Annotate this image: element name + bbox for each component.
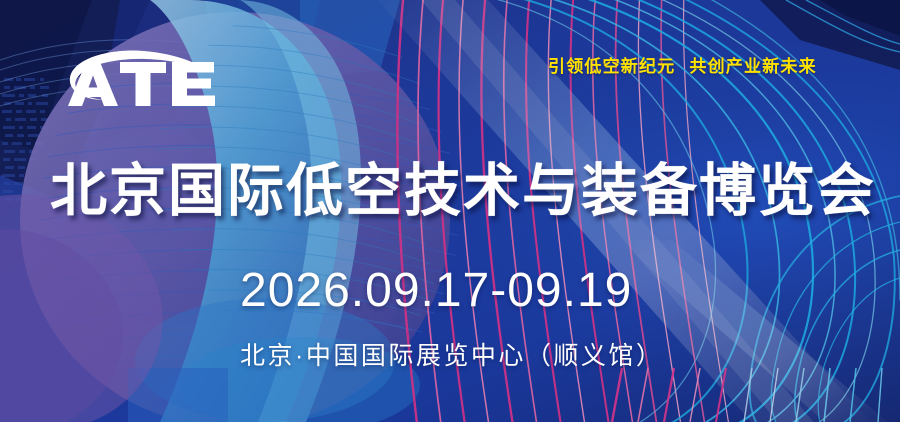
- event-banner: 20: [0, 0, 900, 422]
- tagline: 引领低空新纪元共创产业新未来: [548, 52, 817, 77]
- ate-wordmark: [68, 62, 215, 106]
- ate-logo[interactable]: [62, 42, 222, 112]
- page-title: 北京国际低空技术与装备博览会: [50, 163, 876, 220]
- event-venue: 北京·中国国际展览中心（顺义馆）: [240, 336, 663, 372]
- tagline-part-2: 共创产业新未来: [689, 57, 816, 76]
- event-date: 2026.09.17-09.19: [240, 266, 632, 316]
- tagline-part-1: 引领低空新纪元: [548, 57, 675, 76]
